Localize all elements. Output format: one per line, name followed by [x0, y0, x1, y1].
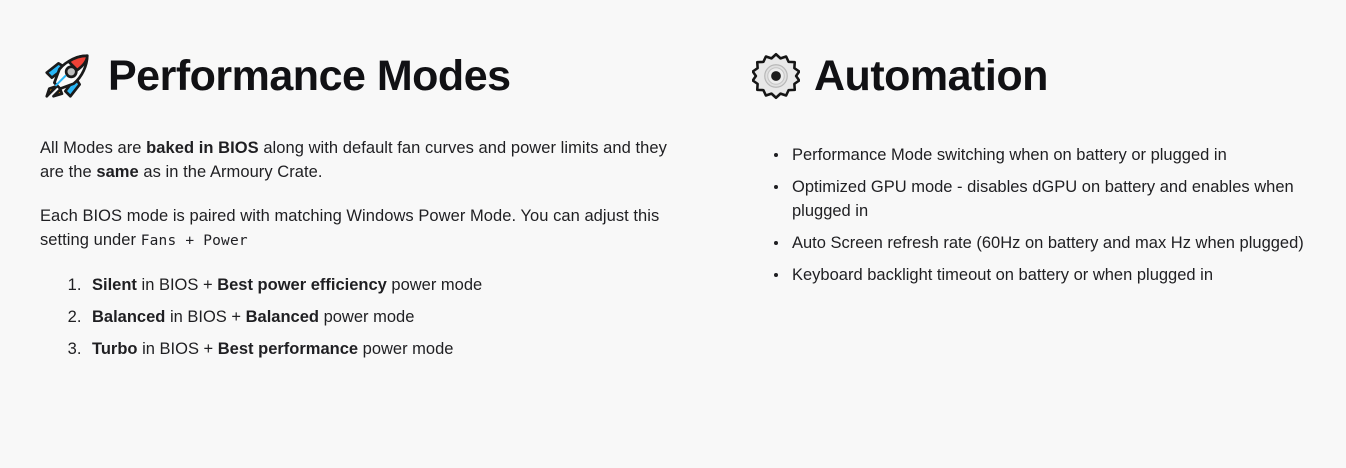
mode-tail: power mode: [358, 340, 453, 358]
intro-paragraph: All Modes are baked in BIOS along with d…: [40, 136, 680, 184]
mode-mid: in BIOS +: [138, 340, 218, 358]
page-title: Performance Modes: [108, 55, 511, 98]
list-item: Optimized GPU mode - disables dGPU on ba…: [772, 175, 1312, 223]
automation-section: Automation Performance Mode switching wh…: [752, 0, 1312, 295]
power-mode-text: Each BIOS mode is paired with matching W…: [40, 207, 659, 249]
mode-list: Silent in BIOS + Best power efficiency p…: [40, 273, 680, 361]
intro-text-3: as in the Armoury Crate.: [139, 163, 323, 181]
intro-bold-2: same: [96, 163, 138, 181]
list-item: Silent in BIOS + Best power efficiency p…: [86, 273, 680, 297]
automation-header: Automation: [752, 45, 1312, 107]
automation-list: Performance Mode switching when on batte…: [752, 143, 1312, 287]
mode-mid: in BIOS +: [165, 308, 245, 326]
power-mode-paragraph: Each BIOS mode is paired with matching W…: [40, 204, 680, 253]
mode-name: Balanced: [92, 308, 165, 326]
mode-name: Turbo: [92, 340, 138, 358]
power-mode-name: Best power efficiency: [217, 276, 387, 294]
mode-tail: power mode: [319, 308, 414, 326]
intro-text-1: All Modes are: [40, 139, 146, 157]
list-item: Performance Mode switching when on batte…: [772, 143, 1312, 167]
gear-icon: [752, 52, 800, 100]
list-item: Keyboard backlight timeout on battery or…: [772, 263, 1312, 287]
mode-name: Silent: [92, 276, 137, 294]
rocket-icon: [40, 49, 94, 103]
list-item: Turbo in BIOS + Best performance power m…: [86, 337, 680, 361]
fans-power-code: Fans + Power: [141, 233, 248, 249]
page-root: Performance Modes All Modes are baked in…: [0, 0, 1346, 468]
list-item: Balanced in BIOS + Balanced power mode: [86, 305, 680, 329]
power-mode-name: Best performance: [218, 340, 358, 358]
mode-mid: in BIOS +: [137, 276, 217, 294]
performance-modes-section: Performance Modes All Modes are baked in…: [40, 0, 680, 369]
list-item: Auto Screen refresh rate (60Hz on batter…: [772, 231, 1312, 255]
power-mode-name: Balanced: [246, 308, 319, 326]
intro-bold-1: baked in BIOS: [146, 139, 259, 157]
performance-modes-header: Performance Modes: [40, 45, 680, 107]
mode-tail: power mode: [387, 276, 482, 294]
automation-title: Automation: [814, 55, 1048, 98]
